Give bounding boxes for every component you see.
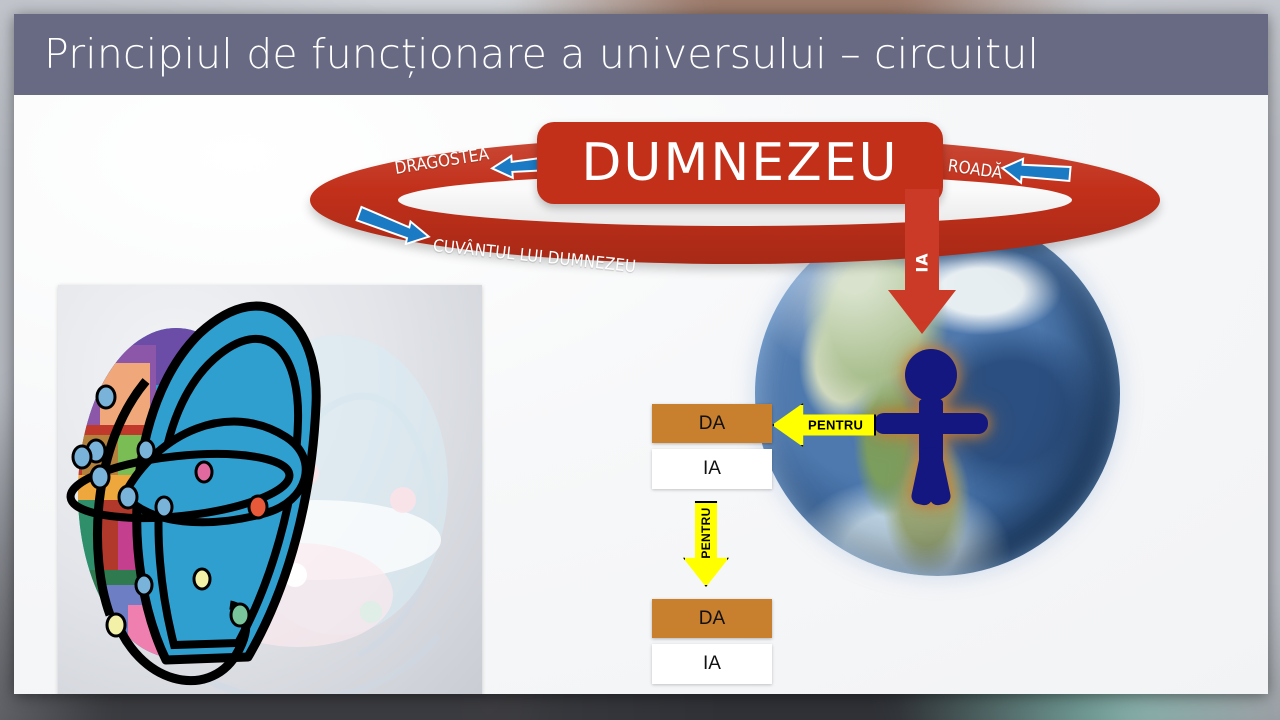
down-arrow-icon-ia: IA: [888, 189, 956, 334]
pentru-label-left: PENTRU: [808, 418, 863, 433]
dumnezeu-label: DUMNEZEU: [581, 133, 898, 193]
abstract-loops-illustration: [58, 285, 482, 694]
slide-title-bar: Principiul de funcționare a universului …: [14, 14, 1268, 95]
red-arrow-label: IA: [913, 252, 932, 272]
left-arrow-icon-pentru: PENTRU: [772, 403, 876, 447]
da-box-1: DA: [652, 404, 772, 443]
page-title: Principiul de funcționare a universului …: [44, 30, 1039, 78]
pentru-label-down: PENTRU: [699, 507, 713, 558]
red-arrow-shaft: [905, 189, 939, 294]
dumnezeu-banner: DUMNEZEU: [537, 122, 943, 204]
da-box-2: DA: [652, 599, 772, 638]
red-arrow-head: [888, 290, 956, 334]
abstract-loops-picture: [58, 285, 482, 694]
down-arrow-icon-pentru: PENTRU: [683, 501, 729, 587]
ia-box-2: IA: [652, 644, 772, 684]
presentation-slide: Principiul de funcționare a universului …: [14, 14, 1268, 694]
ia-box-1: IA: [652, 449, 772, 489]
stick-figure-icon: [872, 347, 990, 507]
